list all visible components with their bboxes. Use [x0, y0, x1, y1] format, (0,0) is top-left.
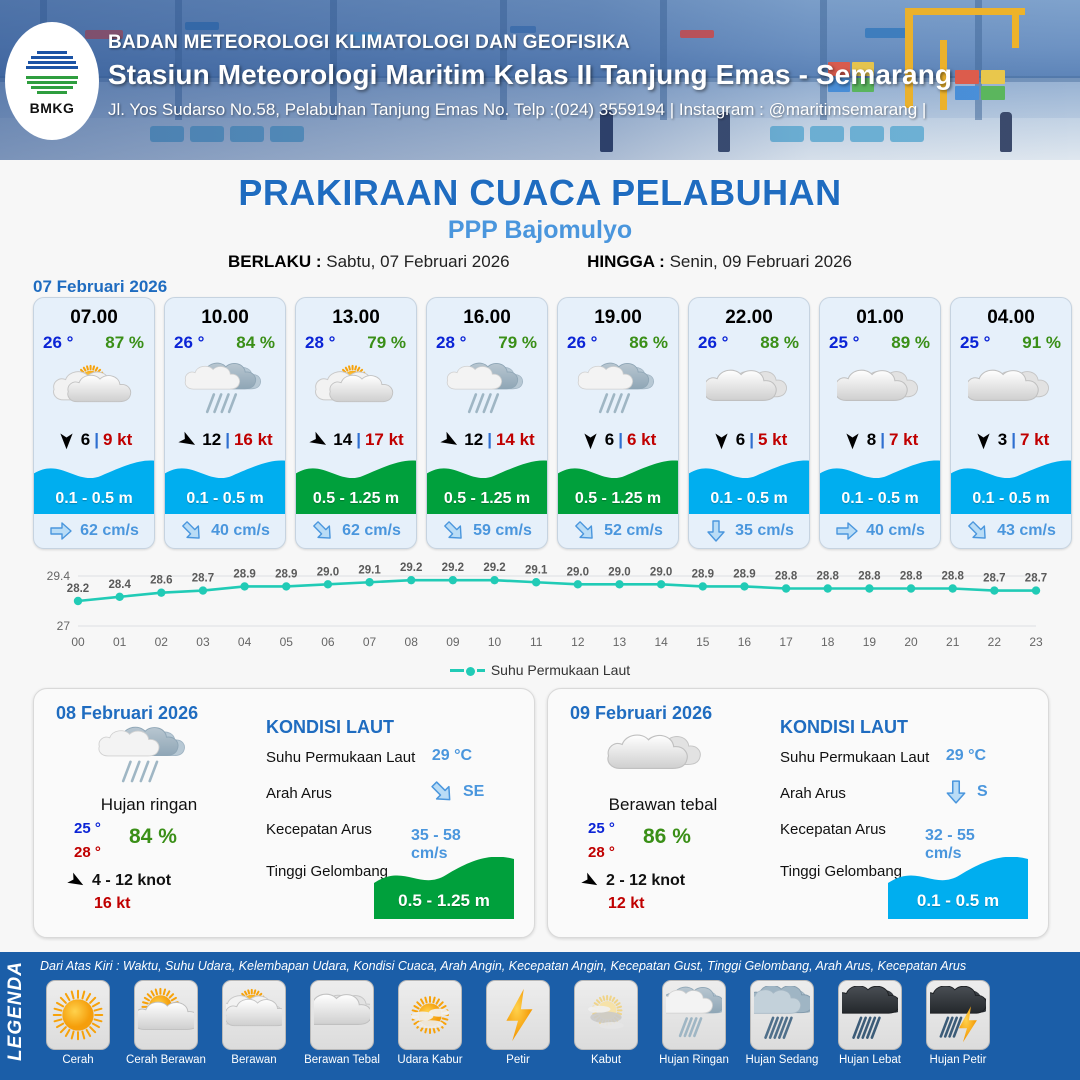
panel-wave-value: 0.5 - 1.25 m — [374, 891, 514, 911]
svg-text:29.0: 29.0 — [317, 566, 339, 578]
card-time: 10.00 — [165, 307, 285, 329]
legend-line-marker — [450, 669, 464, 672]
station-name: Stasiun Meteorologi Maritim Kelas II Tan… — [108, 59, 952, 91]
wind-gust-separator: | — [225, 430, 230, 450]
legenda-sidebar: LEGENDA — [0, 952, 32, 1080]
legend-item: Cerah — [36, 980, 120, 1066]
legend-dot-marker — [466, 667, 475, 676]
legend-note: Dari Atas Kiri : Waktu, Suhu Udara, Kele… — [40, 959, 966, 973]
legend-line-marker — [477, 669, 485, 672]
panel-date: 08 Februari 2026 — [56, 703, 198, 724]
row-current-dir-value: S — [943, 779, 988, 805]
legend-hujan-sedang-icon — [750, 980, 814, 1050]
row-current-speed-label: Kecepatan Arus — [266, 821, 372, 838]
contact-line: Jl. Yos Sudarso No.58, Pelabuhan Tanjung… — [108, 100, 926, 120]
svg-text:22: 22 — [988, 635, 1002, 649]
card-humidity: 87 % — [105, 333, 144, 353]
legend-item: Cerah Berawan — [124, 980, 208, 1066]
svg-text:29.2: 29.2 — [442, 562, 464, 574]
wind-direction-arrow-icon — [580, 871, 600, 891]
legend-hujan-ringan-icon — [662, 980, 726, 1050]
wind-gust-separator: | — [487, 430, 492, 450]
card-current-row: 59 cm/s — [427, 518, 547, 544]
legend-item: Hujan Petir — [916, 980, 1000, 1066]
wave-height-value: 0.1 - 0.5 m — [951, 490, 1071, 508]
svg-text:17: 17 — [779, 635, 793, 649]
hourly-card: 04.00 25 ° 91 % 3 | 7 kt — [950, 297, 1072, 549]
svg-text:01: 01 — [113, 635, 127, 649]
wind-gust-value: 7 kt — [889, 430, 918, 450]
panel-humidity: 84 % — [129, 825, 177, 849]
card-humidity: 86 % — [629, 333, 668, 353]
svg-text:28.9: 28.9 — [275, 568, 297, 580]
card-current-row: 35 cm/s — [689, 518, 809, 544]
sst-chart: 29.42728.20028.40128.60228.70328.90428.9… — [32, 560, 1048, 652]
wind-direction-arrow-icon — [56, 430, 77, 451]
svg-text:12: 12 — [571, 635, 585, 649]
wind-gust-value: 9 kt — [103, 430, 132, 450]
svg-text:29.0: 29.0 — [567, 566, 589, 578]
svg-text:29.1: 29.1 — [525, 564, 548, 576]
page-header: BMKG BADAN METEOROLOGI KLIMATOLOGI DAN G… — [0, 0, 1080, 160]
current-speed-value: 52 cm/s — [604, 522, 663, 540]
panel-temp-min: 25 ° — [74, 820, 101, 837]
current-direction-cardinal: S — [977, 783, 988, 801]
wave-height-value: 0.1 - 0.5 m — [820, 490, 940, 508]
svg-text:28.8: 28.8 — [858, 571, 881, 583]
hourly-card: 19.00 26 ° 86 % 6 | 6 kt — [557, 297, 679, 549]
legend-item-label: Cerah — [62, 1054, 93, 1066]
legend-item-label: Berawan Tebal — [304, 1054, 380, 1066]
svg-text:28.8: 28.8 — [942, 571, 965, 583]
wind-direction-arrow-icon — [177, 430, 198, 451]
wind-direction-arrow-icon — [580, 430, 601, 451]
wave-height-value: 0.5 - 1.25 m — [558, 490, 678, 508]
legend-item: Kabut — [564, 980, 648, 1066]
sea-conditions-heading: KONDISI LAUT — [780, 717, 908, 738]
wind-gust-separator: | — [94, 430, 99, 450]
panel-condition-label: Hujan ringan — [44, 795, 254, 815]
legend-item-label: Kabut — [591, 1054, 621, 1066]
svg-text:00: 00 — [71, 635, 85, 649]
wind-direction-arrow-icon — [973, 430, 994, 451]
row-current-dir-label: Arah Arus — [266, 785, 332, 802]
row-current-dir-label: Arah Arus — [780, 785, 846, 802]
card-weather-icon — [427, 360, 547, 422]
card-wind-row: 8 | 7 kt — [820, 428, 940, 452]
panel-gust-value: 16 kt — [94, 895, 130, 913]
svg-text:03: 03 — [196, 635, 210, 649]
svg-text:04: 04 — [238, 635, 252, 649]
wind-gust-value: 14 kt — [496, 430, 535, 450]
panel-wind-value: 4 - 12 knot — [92, 872, 171, 890]
svg-text:19: 19 — [863, 635, 877, 649]
legend-item: Berawan Tebal — [300, 980, 384, 1066]
svg-text:08: 08 — [405, 635, 419, 649]
wind-direction-arrow-icon — [66, 871, 86, 891]
row-wave-label: Tinggi Gelombang — [266, 863, 388, 880]
card-temperature: 25 ° — [829, 333, 859, 353]
legend-petir-icon — [486, 980, 550, 1050]
svg-text:10: 10 — [488, 635, 502, 649]
svg-text:23: 23 — [1029, 635, 1043, 649]
wind-gust-separator: | — [356, 430, 361, 450]
current-direction-arrow-icon — [429, 779, 455, 805]
card-humidity: 79 % — [498, 333, 537, 353]
row-sst-label: Suhu Permukaan Laut — [780, 749, 929, 766]
svg-text:28.7: 28.7 — [983, 573, 1005, 585]
card-time: 07.00 — [34, 307, 154, 329]
card-wave-block: 0.1 - 0.5 m — [689, 456, 809, 514]
svg-text:13: 13 — [613, 635, 627, 649]
wind-gust-separator: | — [1011, 430, 1016, 450]
card-wave-block: 0.1 - 0.5 m — [34, 456, 154, 514]
card-humidity: 91 % — [1022, 333, 1061, 353]
legend-kabut-icon — [574, 980, 638, 1050]
legend-content: Dari Atas Kiri : Waktu, Suhu Udara, Kele… — [32, 952, 1080, 1080]
card-wind-row: 12 | 16 kt — [165, 428, 285, 452]
row-sst-value: 29 °C — [432, 747, 472, 765]
sea-conditions-heading: KONDISI LAUT — [266, 717, 394, 738]
wind-direction-arrow-icon — [439, 430, 460, 451]
legend-hujan-lebat-icon — [838, 980, 902, 1050]
wind-gust-value: 16 kt — [234, 430, 273, 450]
svg-text:29.0: 29.0 — [650, 566, 672, 578]
panel-temp-min: 25 ° — [588, 820, 615, 837]
legend-item: Hujan Sedang — [740, 980, 824, 1066]
card-current-row: 40 cm/s — [820, 518, 940, 544]
card-temperature: 25 ° — [960, 333, 990, 353]
current-direction-arrow-icon — [966, 519, 990, 543]
daily-forecast-panel: 09 Februari 2026 Berawan tebal 25 ° 28 °… — [547, 688, 1049, 938]
bmkg-logo-text: BMKG — [30, 100, 75, 116]
wind-gust-separator: | — [880, 430, 885, 450]
legend-item: Udara Kabur — [388, 980, 472, 1066]
card-humidity: 89 % — [891, 333, 930, 353]
card-temperature: 26 ° — [567, 333, 597, 353]
current-speed-value: 59 cm/s — [473, 522, 532, 540]
sst-chart-legend: Suhu Permukaan Laut — [0, 662, 1080, 678]
panel-gust-value: 12 kt — [608, 895, 644, 913]
row-current-speed-label: Kecepatan Arus — [780, 821, 886, 838]
card-wind-row: 3 | 7 kt — [951, 428, 1071, 452]
card-humidity: 79 % — [367, 333, 406, 353]
card-temperature: 28 ° — [305, 333, 335, 353]
current-speed-value: 43 cm/s — [997, 522, 1056, 540]
current-speed-value: 35 cm/s — [735, 522, 794, 540]
bmkg-logo: BMKG — [5, 22, 99, 140]
card-weather-icon — [689, 360, 809, 422]
card-wind-row: 14 | 17 kt — [296, 428, 416, 452]
page-subtitle: PPP Bajomulyo — [0, 216, 1080, 245]
wind-speed-value: 6 — [605, 430, 614, 450]
card-current-row: 62 cm/s — [296, 518, 416, 544]
svg-text:07: 07 — [363, 635, 377, 649]
svg-text:06: 06 — [321, 635, 335, 649]
wind-speed-value: 3 — [998, 430, 1007, 450]
card-current-row: 62 cm/s — [34, 518, 154, 544]
current-direction-arrow-icon — [442, 519, 466, 543]
svg-text:28.2: 28.2 — [67, 583, 89, 595]
current-direction-cardinal: SE — [463, 783, 484, 801]
card-temperature: 28 ° — [436, 333, 466, 353]
wave-height-value: 0.5 - 1.25 m — [427, 490, 547, 508]
svg-text:29.0: 29.0 — [608, 566, 630, 578]
wind-gust-value: 5 kt — [758, 430, 787, 450]
legend-item-list: Cerah Cerah Berawan Bera — [36, 980, 1000, 1066]
card-temperature: 26 ° — [698, 333, 728, 353]
legend-item-label: Cerah Berawan — [126, 1054, 206, 1066]
panel-wind-value: 2 - 12 knot — [606, 872, 685, 890]
card-temperature: 26 ° — [174, 333, 204, 353]
panel-wind-row: 2 - 12 knot — [580, 871, 685, 891]
wind-speed-value: 14 — [333, 430, 352, 450]
panel-weather-icon — [89, 725, 199, 791]
current-direction-arrow-icon — [311, 519, 335, 543]
row-wave-label: Tinggi Gelombang — [780, 863, 902, 880]
card-wave-block: 0.5 - 1.25 m — [427, 456, 547, 514]
wave-height-value: 0.1 - 0.5 m — [689, 490, 809, 508]
panel-wind-row: 4 - 12 knot — [66, 871, 171, 891]
current-speed-value: 40 cm/s — [866, 522, 925, 540]
wind-speed-value: 12 — [464, 430, 483, 450]
current-direction-arrow-icon — [704, 519, 728, 543]
svg-text:18: 18 — [821, 635, 835, 649]
validity-row: BERLAKU : Sabtu, 07 Februari 2026 HINGGA… — [0, 252, 1080, 272]
svg-text:28.9: 28.9 — [692, 568, 714, 580]
card-weather-icon — [820, 360, 940, 422]
legend-berawan-icon — [222, 980, 286, 1050]
svg-text:15: 15 — [696, 635, 710, 649]
wind-speed-value: 12 — [202, 430, 221, 450]
hourly-date-label: 07 Februari 2026 — [33, 277, 167, 297]
current-speed-value: 62 cm/s — [342, 522, 401, 540]
daily-forecast-panel: 08 Februari 2026 Hujan ringan 25 ° 28 ° … — [33, 688, 535, 938]
current-direction-arrow-icon — [49, 519, 73, 543]
svg-text:28.8: 28.8 — [775, 571, 798, 583]
current-direction-arrow-icon — [943, 779, 969, 805]
wave-height-value: 0.1 - 0.5 m — [165, 490, 285, 508]
valid-until-value: Senin, 09 Februari 2026 — [670, 252, 852, 271]
hourly-card: 07.00 26 ° 87 % 6 | 9 kt — [33, 297, 155, 549]
svg-text:28.9: 28.9 — [733, 568, 755, 580]
legend-series-label: Suhu Permukaan Laut — [491, 662, 630, 678]
current-speed-value: 62 cm/s — [80, 522, 139, 540]
current-direction-arrow-icon — [573, 519, 597, 543]
svg-text:09: 09 — [446, 635, 460, 649]
svg-text:28.8: 28.8 — [900, 571, 923, 583]
card-wind-row: 6 | 5 kt — [689, 428, 809, 452]
sst-chart-svg: 29.42728.20028.40128.60228.70328.90428.9… — [32, 560, 1048, 652]
card-wave-block: 0.1 - 0.5 m — [820, 456, 940, 514]
card-wave-block: 0.1 - 0.5 m — [951, 456, 1071, 514]
panel-condition-label: Berawan tebal — [558, 795, 768, 815]
card-wave-block: 0.1 - 0.5 m — [165, 456, 285, 514]
card-weather-icon — [165, 360, 285, 422]
wave-height-value: 0.1 - 0.5 m — [34, 490, 154, 508]
wind-gust-separator: | — [618, 430, 623, 450]
current-direction-arrow-icon — [180, 519, 204, 543]
svg-text:14: 14 — [654, 635, 668, 649]
card-time: 01.00 — [820, 307, 940, 329]
legend-item-label: Hujan Petir — [930, 1054, 987, 1066]
legend-item-label: Hujan Lebat — [839, 1054, 901, 1066]
legend-item-label: Hujan Sedang — [746, 1054, 819, 1066]
card-time: 19.00 — [558, 307, 678, 329]
valid-from-value: Sabtu, 07 Februari 2026 — [326, 252, 509, 271]
legenda-sidebar-label: LEGENDA — [5, 947, 27, 1075]
legend-item-label: Berawan — [231, 1054, 276, 1066]
card-humidity: 88 % — [760, 333, 799, 353]
hourly-card: 16.00 28 ° 79 % 12 | 14 kt — [426, 297, 548, 549]
panel-temp-max: 28 ° — [588, 844, 615, 861]
wave-height-value: 0.5 - 1.25 m — [296, 490, 416, 508]
card-weather-icon — [296, 360, 416, 422]
svg-text:29.2: 29.2 — [400, 562, 422, 574]
row-sst-value: 29 °C — [946, 747, 986, 765]
panel-humidity: 86 % — [643, 825, 691, 849]
card-weather-icon — [34, 360, 154, 422]
current-speed-value: 40 cm/s — [211, 522, 270, 540]
hourly-card: 01.00 25 ° 89 % 8 | 7 kt — [819, 297, 941, 549]
valid-from-label: BERLAKU : — [228, 252, 322, 271]
agency-name: BADAN METEOROLOGI KLIMATOLOGI DAN GEOFIS… — [108, 32, 630, 54]
card-current-row: 52 cm/s — [558, 518, 678, 544]
panel-weather-icon — [603, 725, 713, 791]
row-current-dir-value: SE — [429, 779, 484, 805]
row-sst-label: Suhu Permukaan Laut — [266, 749, 415, 766]
svg-text:11: 11 — [530, 635, 543, 649]
card-current-row: 40 cm/s — [165, 518, 285, 544]
legend-item: Hujan Lebat — [828, 980, 912, 1066]
card-time: 16.00 — [427, 307, 547, 329]
legend-item-label: Udara Kabur — [397, 1054, 462, 1066]
panel-date: 09 Februari 2026 — [570, 703, 712, 724]
wind-direction-arrow-icon — [842, 430, 863, 451]
svg-text:29.4: 29.4 — [47, 569, 71, 583]
svg-text:28.8: 28.8 — [817, 571, 840, 583]
wind-speed-value: 6 — [81, 430, 90, 450]
card-humidity: 84 % — [236, 333, 275, 353]
card-time: 13.00 — [296, 307, 416, 329]
legend-item-label: Petir — [506, 1054, 530, 1066]
wind-gust-value: 7 kt — [1020, 430, 1049, 450]
svg-text:05: 05 — [280, 635, 294, 649]
svg-text:27: 27 — [57, 619, 71, 633]
svg-text:29.2: 29.2 — [483, 562, 505, 574]
card-time: 22.00 — [689, 307, 809, 329]
panel-wave-block: 0.5 - 1.25 m — [374, 857, 514, 919]
bmkg-globe-icon — [23, 47, 81, 99]
legend-item-label: Hujan Ringan — [659, 1054, 729, 1066]
legend-item: Hujan Ringan — [652, 980, 736, 1066]
panel-temp-max: 28 ° — [74, 844, 101, 861]
svg-text:29.1: 29.1 — [358, 564, 381, 576]
wind-gust-value: 6 kt — [627, 430, 656, 450]
wind-speed-value: 6 — [736, 430, 745, 450]
wind-gust-value: 17 kt — [365, 430, 404, 450]
panel-wave-block: 0.1 - 0.5 m — [888, 857, 1028, 919]
hourly-forecast-strip: 07.00 26 ° 87 % 6 | 9 kt — [33, 297, 1072, 549]
current-direction-arrow-icon — [835, 519, 859, 543]
svg-text:21: 21 — [946, 635, 960, 649]
card-time: 04.00 — [951, 307, 1071, 329]
svg-text:28.9: 28.9 — [233, 568, 255, 580]
svg-text:28.6: 28.6 — [150, 575, 172, 587]
card-wind-row: 12 | 14 kt — [427, 428, 547, 452]
legend-udara-kabur-icon — [398, 980, 462, 1050]
legend-item: Berawan — [212, 980, 296, 1066]
svg-text:16: 16 — [738, 635, 752, 649]
legend-cerah-icon — [46, 980, 110, 1050]
card-wave-block: 0.5 - 1.25 m — [296, 456, 416, 514]
card-wind-row: 6 | 6 kt — [558, 428, 678, 452]
svg-text:28.7: 28.7 — [192, 573, 214, 585]
wind-direction-arrow-icon — [308, 430, 329, 451]
svg-text:28.7: 28.7 — [1025, 573, 1047, 585]
svg-text:02: 02 — [155, 635, 169, 649]
svg-text:28.4: 28.4 — [108, 579, 131, 591]
wind-gust-separator: | — [749, 430, 754, 450]
legend-bar: LEGENDA Dari Atas Kiri : Waktu, Suhu Uda… — [0, 952, 1080, 1080]
svg-text:20: 20 — [904, 635, 918, 649]
card-weather-icon — [558, 360, 678, 422]
card-weather-icon — [951, 360, 1071, 422]
hourly-card: 13.00 28 ° 79 % 14 | 17 kt — [295, 297, 417, 549]
hourly-card: 22.00 26 ° 88 % 6 | 5 kt — [688, 297, 810, 549]
hourly-card: 10.00 26 ° 84 % 12 | 16 kt — [164, 297, 286, 549]
panel-wave-value: 0.1 - 0.5 m — [888, 891, 1028, 911]
legend-cerah-berawan-icon — [134, 980, 198, 1050]
page-title: PRAKIRAAN CUACA PELABUHAN — [0, 172, 1080, 214]
legend-berawan-tebal-icon — [310, 980, 374, 1050]
legend-hujan-petir-icon — [926, 980, 990, 1050]
legend-item: Petir — [476, 980, 560, 1066]
card-temperature: 26 ° — [43, 333, 73, 353]
card-wind-row: 6 | 9 kt — [34, 428, 154, 452]
wind-direction-arrow-icon — [711, 430, 732, 451]
card-current-row: 43 cm/s — [951, 518, 1071, 544]
card-wave-block: 0.5 - 1.25 m — [558, 456, 678, 514]
valid-until-label: HINGGA : — [587, 252, 665, 271]
wind-speed-value: 8 — [867, 430, 876, 450]
